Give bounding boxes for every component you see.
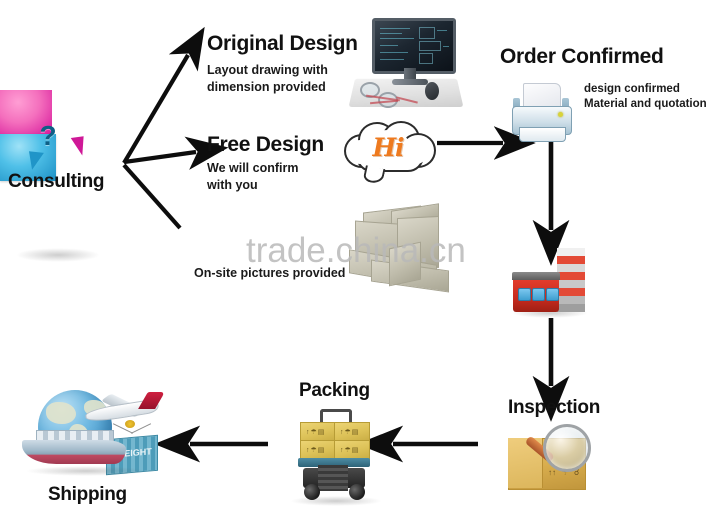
crane-hook-icon (125, 420, 135, 428)
ship-hull-icon (22, 440, 126, 464)
globe-plane-ship-container-icon: FREIGHT (0, 0, 717, 518)
hi-text-label: Hi (352, 133, 424, 162)
shipping-shadow (26, 466, 146, 476)
airplane-tail-icon (138, 392, 165, 409)
shipping-label: Shipping (48, 485, 127, 505)
flow-diagram-canvas: ? Consulting Original Design Layout draw… (0, 0, 717, 518)
